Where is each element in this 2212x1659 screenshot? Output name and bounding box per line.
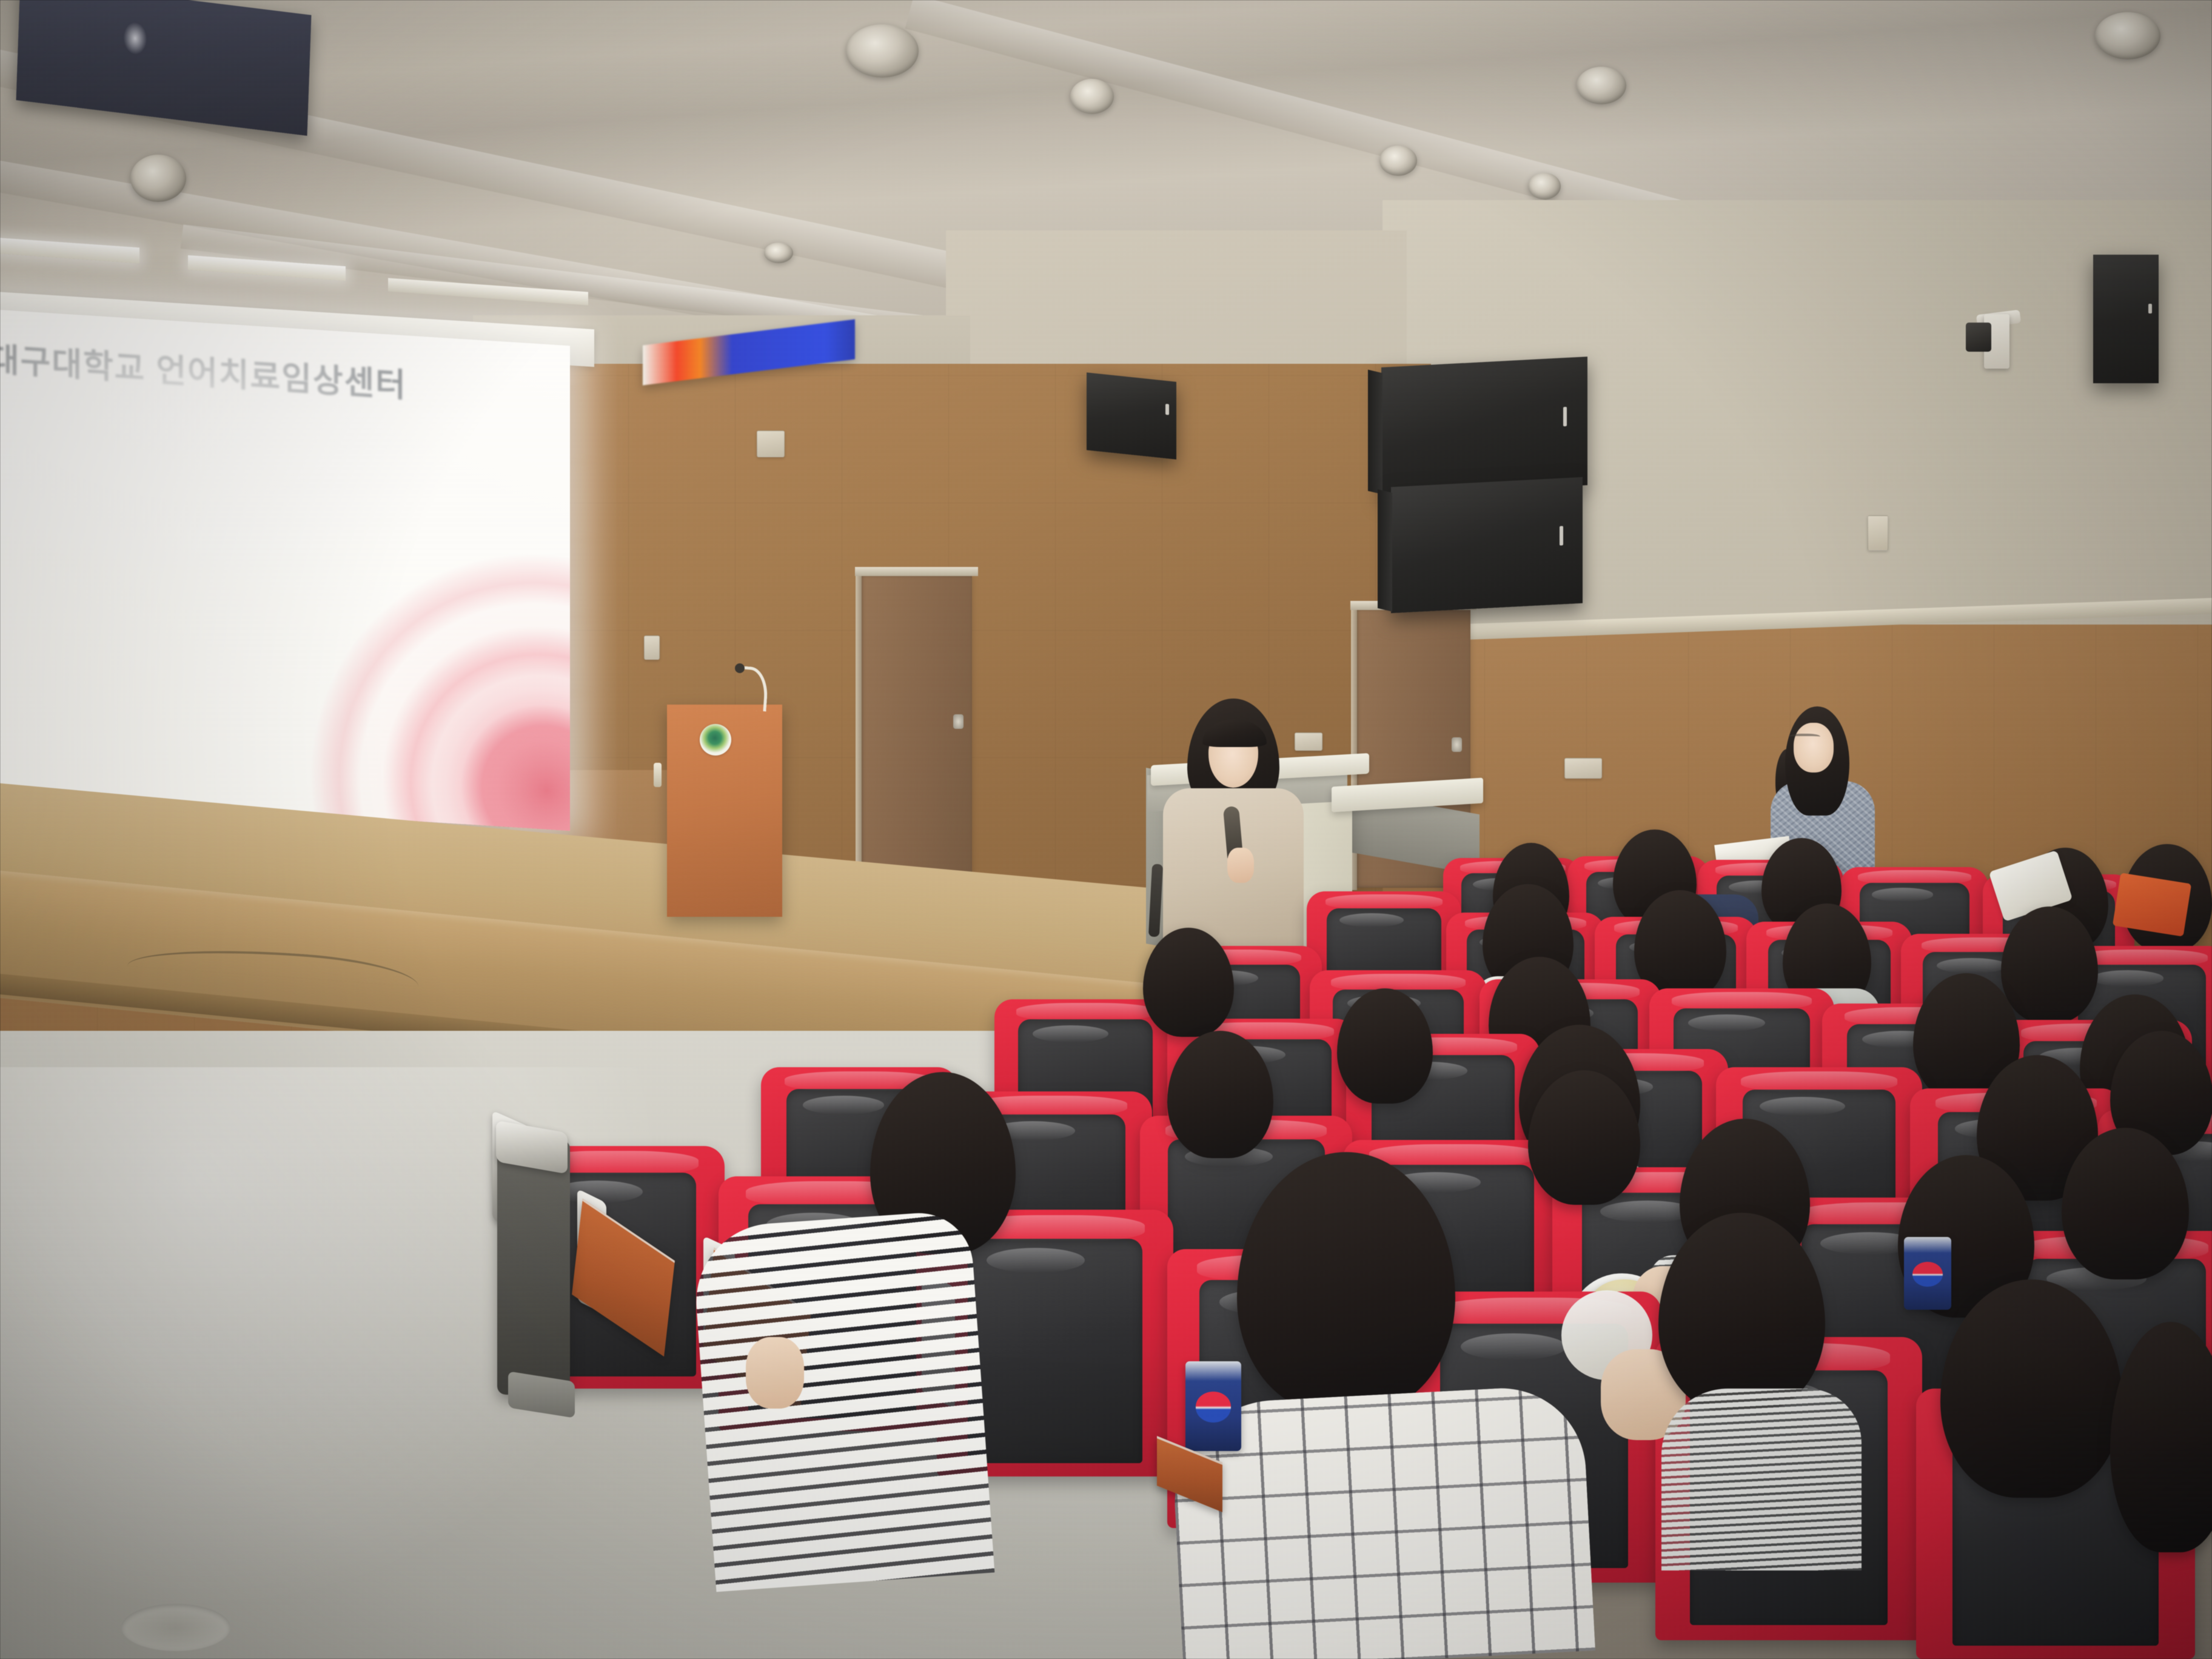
wall-plate-1[interactable] bbox=[757, 431, 785, 457]
wall-speaker-upper-large bbox=[1381, 357, 1587, 496]
wall-speaker-lower-large bbox=[1391, 477, 1583, 614]
assistant-face bbox=[1794, 723, 1834, 773]
glasses-icon bbox=[1789, 734, 1820, 741]
ceiling-downlight-8 bbox=[764, 243, 793, 263]
ceiling-downlight-4 bbox=[1379, 146, 1417, 176]
presenter-hand bbox=[1227, 848, 1254, 883]
university-emblem-icon bbox=[700, 724, 731, 756]
ceiling-downlight-3 bbox=[1070, 79, 1114, 114]
microphone-head-icon bbox=[735, 663, 745, 673]
ceiling-downlight-7 bbox=[2095, 12, 2160, 59]
slide-title-text: 대구대학교 언어치료임상센터 bbox=[0, 332, 560, 416]
snack-bag bbox=[2113, 873, 2191, 936]
lectern-side-handle bbox=[654, 763, 662, 787]
auditorium-photo: 대구대학교 언어치료임상센터 bbox=[0, 0, 2212, 1659]
ceiling-downlight-6 bbox=[1577, 67, 1626, 104]
audience-hand bbox=[746, 1337, 804, 1409]
wall-plate-6[interactable] bbox=[644, 635, 660, 660]
wall-plate-2[interactable] bbox=[1295, 732, 1322, 751]
ceiling-downlight-2 bbox=[846, 24, 919, 78]
pepsi-can[interactable] bbox=[1904, 1237, 1951, 1310]
wall-plate-5[interactable] bbox=[1868, 515, 1888, 551]
ceiling-downlight-1 bbox=[130, 155, 186, 202]
ceiling-downlight-5 bbox=[1528, 173, 1561, 199]
door-left[interactable] bbox=[860, 575, 972, 878]
wall-speaker-right-small bbox=[2093, 255, 2159, 383]
wall-speaker-left bbox=[1087, 372, 1176, 460]
audience-top-grey-striped bbox=[1661, 1389, 1862, 1570]
aisle-seat-post bbox=[497, 1140, 570, 1395]
audience-top-black-white-striped bbox=[691, 1210, 995, 1592]
security-camera bbox=[1984, 314, 2009, 369]
pepsi-can[interactable] bbox=[1185, 1361, 1241, 1451]
floor-drain bbox=[121, 1604, 230, 1651]
projection-screen: 대구대학교 언어치료임상센터 bbox=[0, 309, 570, 831]
wall-plate-4[interactable] bbox=[1564, 758, 1602, 779]
